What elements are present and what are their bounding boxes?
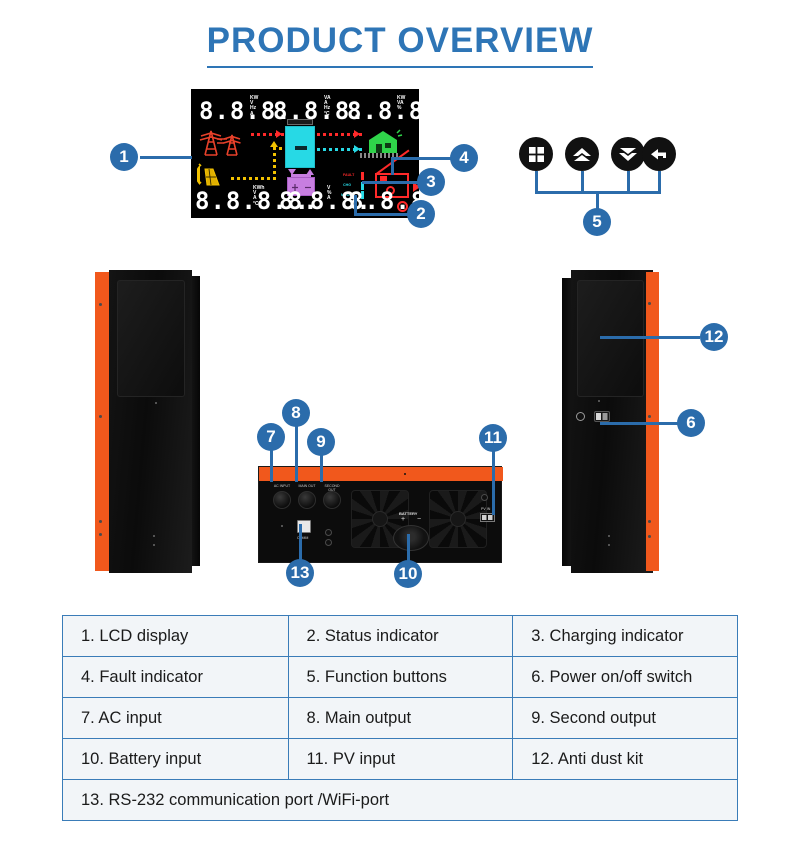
lcd-fault-bar [361,172,364,180]
callout-badge-11: 11 [479,424,507,452]
lcd-top-digits-3: 8.8.8. [347,97,419,125]
dot [404,473,406,475]
flow-solar-vertical [273,147,276,179]
leader-5b [581,171,584,193]
callout-badge-13: 13 [286,559,314,587]
unit-percent: % [397,106,405,111]
legend-cell-11: 11. PV input [288,739,513,780]
callout-badge-5: 5 [583,208,611,236]
product-overview-page: PRODUCT OVERVIEW 8.8.8. KW V Hz A 8.8.8.… [0,0,800,845]
callout-badge-9: 9 [307,428,335,456]
callout-badge-4: 4 [450,144,478,172]
page-title: PRODUCT OVERVIEW [207,22,594,68]
enter-button[interactable] [642,137,676,171]
screw [648,415,651,418]
pv-input-label: PV IN [481,507,490,511]
lcd-bottom-units-1: KWh V A °C [253,186,264,207]
legend-cell-3: 3. Charging indicator [513,616,738,657]
chevron-down-icon [618,146,638,163]
leader-7 [270,450,273,482]
leader-5d [658,171,661,193]
leader-4 [391,157,451,160]
flow-solar-join [273,147,285,150]
legend-table: 1. LCD display 2. Status indicator 3. Ch… [62,615,738,821]
lcd-display: 8.8.8. KW V Hz A 8.8.8. VA A Hz °C 8.8.8… [191,89,419,218]
page-title-wrapper: PRODUCT OVERVIEW [0,22,800,68]
flow-arrow-cyan [354,145,360,153]
screw [99,533,102,536]
callout-badge-1: 1 [110,143,138,171]
leader-3 [362,181,418,184]
leader-1 [140,156,192,159]
leader-5c [627,171,630,193]
left-unit-orange-strip [95,272,109,571]
table-row: 10. Battery input 11. PV input 12. Anti … [63,739,738,780]
menu-grid-button[interactable] [519,137,553,171]
main-output-breaker[interactable]: MAIN OUT [296,484,318,510]
grid-squares-icon [528,146,545,163]
inverter-slot [295,146,307,150]
leader-4-v [391,157,394,175]
power-symbol-icon [576,412,585,421]
flow-arrow-batt-up [306,169,314,175]
legend-cell-10: 10. Battery input [63,739,289,780]
flow-arrow-red-1 [276,130,282,138]
callout-badge-12: 12 [700,323,728,351]
cooling-fan-right [429,490,487,548]
leader-12 [600,336,700,339]
leader-9 [320,455,323,482]
legend-cell-7: 7. AC input [63,698,289,739]
battery-input[interactable] [393,525,429,551]
legend-cell-1: 1. LCD display [63,616,289,657]
callout-badge-2: 2 [407,200,435,228]
product-left-side-view [95,270,200,573]
unit-a: A [250,112,258,117]
dot [598,400,600,402]
screw [648,535,651,538]
flow-solar-horizontal [231,177,276,180]
table-row: 4. Fault indicator 5. Function buttons 6… [63,657,738,698]
battery-plus-sign: + [401,516,405,523]
leader-8 [295,425,298,482]
battery-minus-sign: − [417,516,421,523]
leader-2-v [354,195,357,215]
callout-badge-6: 6 [677,409,705,437]
inverter-cap [287,119,313,125]
unit-a: A [327,196,331,201]
leader-10 [407,534,410,561]
left-unit-edge [192,276,200,566]
lcd-top-units-1: KW V Hz A [250,96,258,117]
legend-cell-13: 13. RS-232 communication port /WiFi-port [63,780,738,821]
lcd-top-units-3: KW VA % [397,96,405,112]
leader-2 [354,213,408,216]
fan-hub [450,511,466,527]
table-row: 13. RS-232 communication port /WiFi-port [63,780,738,821]
flow-arrow-red-2 [354,130,360,138]
breaker-knob[interactable] [323,491,341,509]
left-unit-recess [117,280,185,397]
grid-tower-icon [197,127,253,162]
callout-badge-7: 7 [257,423,285,451]
leader-11 [492,450,495,515]
table-row: 1. LCD display 2. Status indicator 3. Ch… [63,616,738,657]
legend-cell-5: 5. Function buttons [288,657,513,698]
ground-terminal-2 [325,539,332,546]
legend-cell-4: 4. Fault indicator [63,657,289,698]
screw [99,520,102,523]
unit-celsius: °C [253,202,264,207]
legend-cell-2: 2. Status indicator [288,616,513,657]
lcd-fault-label: FAULT [343,173,354,177]
second-output-breaker[interactable]: SECOND OUT [321,484,343,510]
legend-cell-12: 12. Anti dust kit [513,739,738,780]
screw [99,303,102,306]
callout-badge-3: 3 [417,168,445,196]
enter-return-icon [650,146,669,163]
dot [153,544,155,546]
screw [648,302,651,305]
dot [608,544,610,546]
legend-cell-6: 6. Power on/off switch [513,657,738,698]
lcd-top-units-2: VA A Hz °C [324,96,331,117]
callout-badge-8: 8 [282,399,310,427]
unit-celsius: °C [324,112,331,117]
legend-cell-9: 9. Second output [513,698,738,739]
callout-badge-10: 10 [394,560,422,588]
table-row: 7. AC input 8. Main output 9. Second out… [63,698,738,739]
breaker-knob[interactable] [273,491,291,509]
screw [99,415,102,418]
ac-input-breaker-label: AC INPUT [271,484,293,488]
legend-cell-8: 8. Main output [288,698,513,739]
dot [608,535,610,537]
dot [281,525,283,527]
fan-hub [372,511,388,527]
flow-arrow-batt-down [288,169,296,175]
leader-5a [535,171,538,193]
right-unit-edge [562,278,571,566]
down-button[interactable] [611,137,645,171]
main-output-breaker-label: MAIN OUT [296,484,318,488]
up-button[interactable] [565,137,599,171]
screw [648,520,651,523]
leader-6 [600,422,678,425]
pv-circle-port[interactable] [481,494,488,501]
ground-terminal-1 [325,529,332,536]
leader-13 [299,524,302,560]
ac-input-breaker[interactable]: AC INPUT [271,484,293,510]
lcd-bottom-units-2: V % A [327,186,331,202]
dot [155,402,157,404]
chevron-up-icon [572,146,592,163]
breaker-knob[interactable] [298,491,316,509]
dot [153,535,155,537]
power-switch[interactable] [594,411,610,422]
